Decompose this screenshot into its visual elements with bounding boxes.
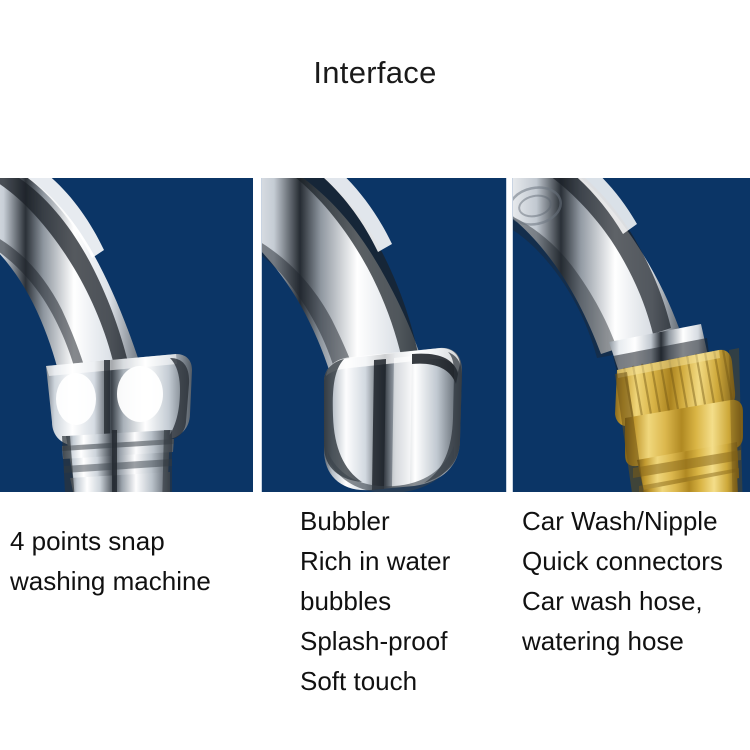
page-title: Interface (0, 55, 750, 91)
caption-column-1: 4 points snap washing machine (10, 521, 211, 601)
panel-row (0, 178, 750, 492)
product-infographic: Interface (0, 0, 750, 750)
caption-line: 4 points snap (10, 521, 211, 561)
faucet-snap-connector-illustration (0, 178, 253, 492)
caption-column-2: Bubbler Rich in water bubbles Splash-pro… (300, 501, 450, 701)
caption-line: Quick connectors (522, 541, 723, 581)
faucet-brass-nipple-illustration (513, 178, 750, 492)
caption-line: Car Wash/Nipple (522, 501, 723, 541)
product-image-panel-3 (512, 178, 750, 492)
caption-line: Bubbler (300, 501, 450, 541)
caption-line: Splash-proof (300, 621, 450, 661)
caption-line: bubbles (300, 581, 450, 621)
caption-line: Car wash hose, (522, 581, 723, 621)
product-image-panel-1 (0, 178, 253, 492)
caption-column-3: Car Wash/Nipple Quick connectors Car was… (522, 501, 723, 661)
caption-line: Soft touch (300, 661, 450, 701)
caption-line: Rich in water (300, 541, 450, 581)
product-image-panel-2 (261, 178, 507, 492)
faucet-bubbler-illustration (262, 178, 506, 492)
caption-line: watering hose (522, 621, 723, 661)
caption-line: washing machine (10, 561, 211, 601)
